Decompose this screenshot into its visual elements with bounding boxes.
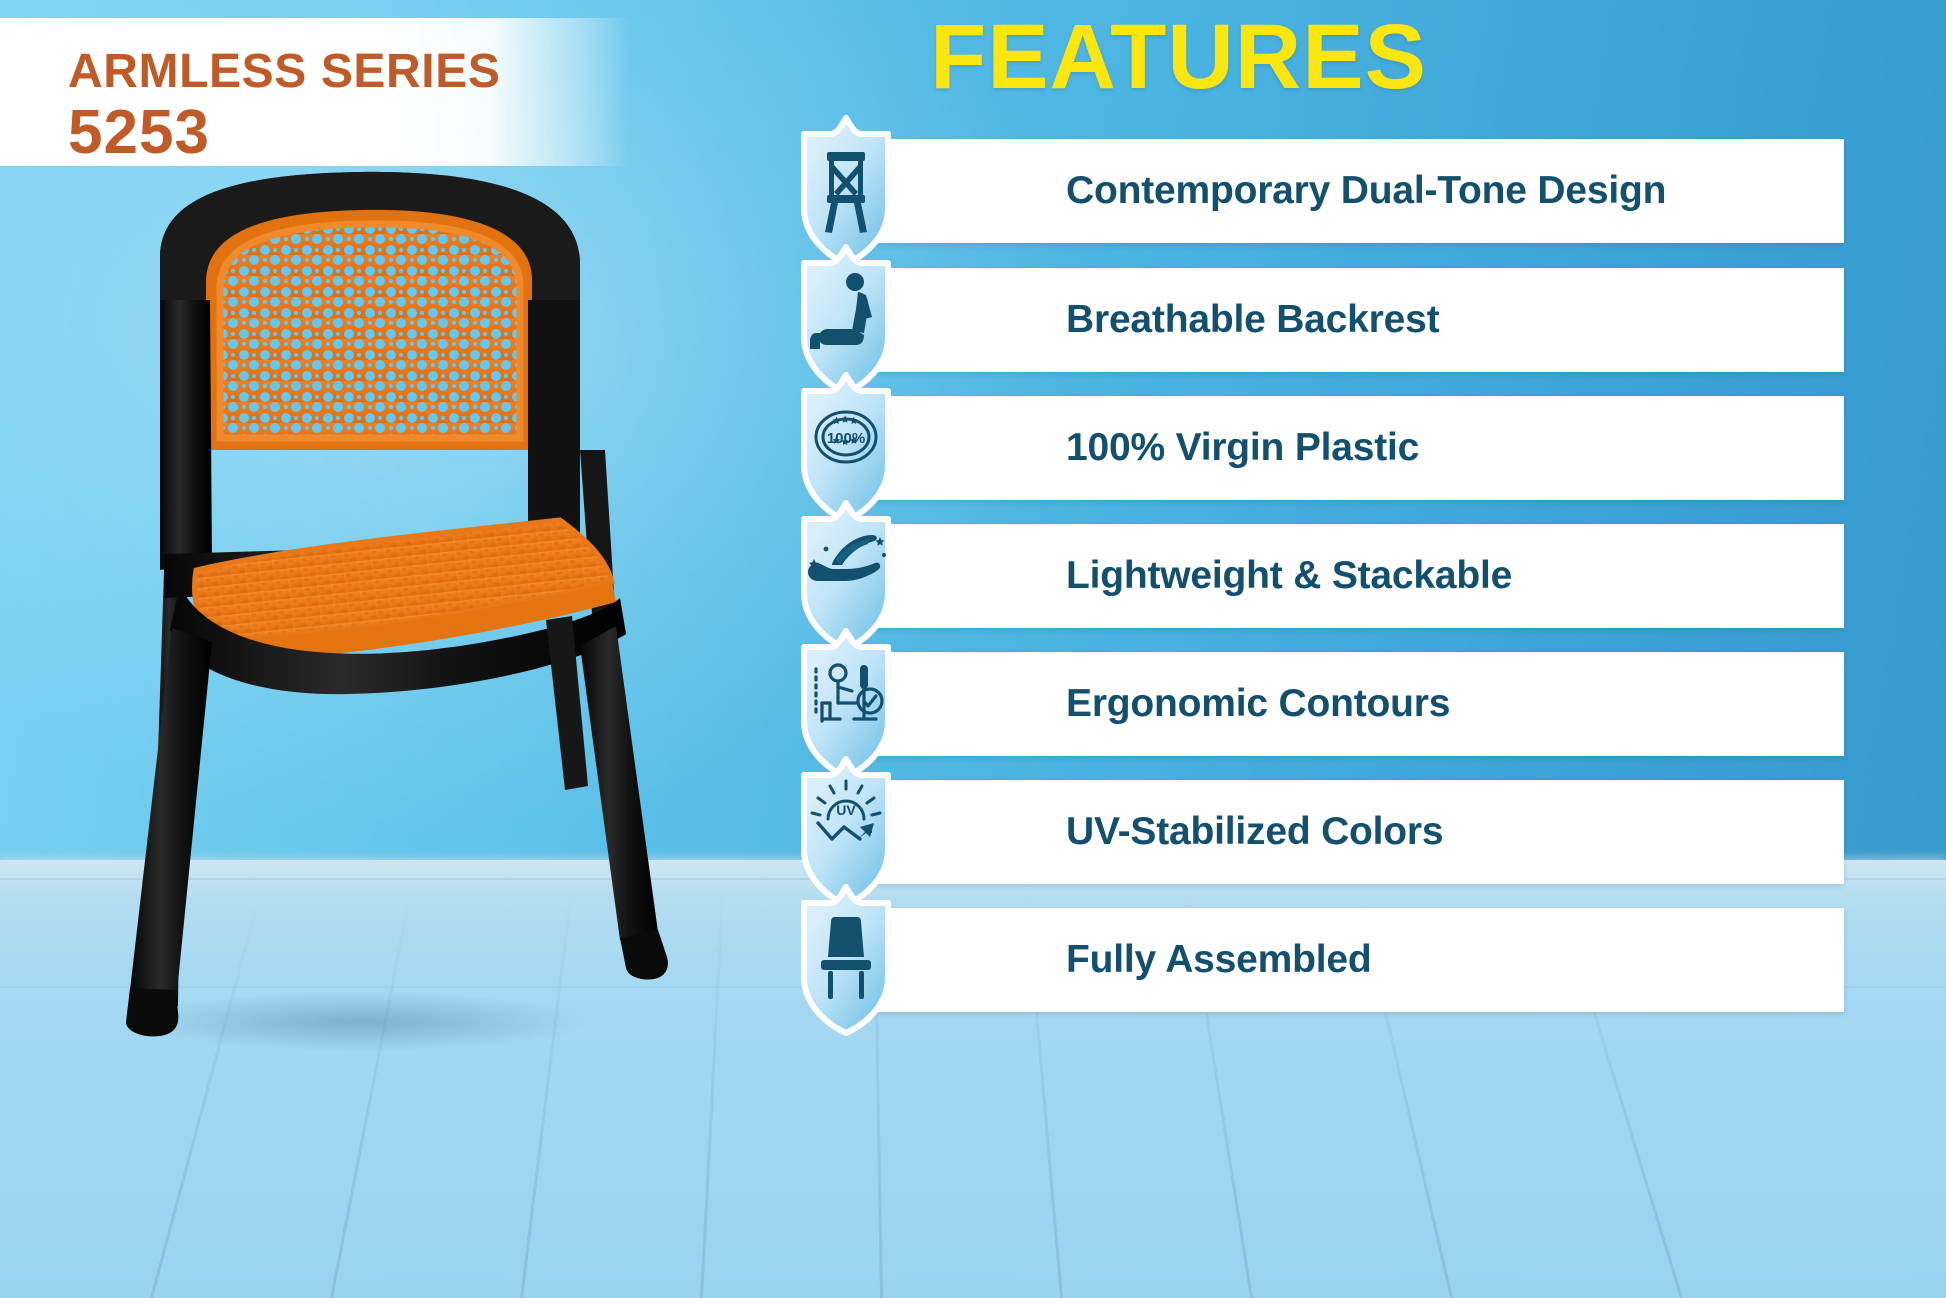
assembled-chair-icon bbox=[798, 881, 894, 1039]
feature-label: Contemporary Dual-Tone Design bbox=[1066, 139, 1666, 243]
feature-row[interactable]: Fully Assembled bbox=[0, 908, 1946, 1012]
product-feature-poster: ARMLESS SERIES 5253 FEATURES bbox=[0, 0, 1946, 1298]
feature-label: Lightweight & Stackable bbox=[1066, 524, 1512, 628]
feature-row[interactable]: Contemporary Dual-Tone Design bbox=[0, 139, 1946, 243]
feature-label: UV-Stabilized Colors bbox=[1066, 780, 1443, 884]
feature-row[interactable]: UV UV-Stabilized Colors bbox=[0, 780, 1946, 884]
feature-row[interactable]: Breathable Backrest bbox=[0, 268, 1946, 372]
svg-text:UV: UV bbox=[836, 802, 856, 818]
feature-label: Ergonomic Contours bbox=[1066, 652, 1450, 756]
features-heading: FEATURES bbox=[930, 8, 1350, 107]
feature-row[interactable]: 100% 100% Virgin Plastic bbox=[0, 396, 1946, 500]
feature-label: Breathable Backrest bbox=[1066, 268, 1439, 372]
svg-text:100%: 100% bbox=[827, 430, 865, 447]
feature-label: Fully Assembled bbox=[1066, 908, 1371, 1012]
feature-row[interactable]: Lightweight & Stackable bbox=[0, 524, 1946, 628]
feature-row[interactable]: Ergonomic Contours bbox=[0, 652, 1946, 756]
feature-label: 100% Virgin Plastic bbox=[1066, 396, 1419, 500]
series-label: ARMLESS SERIES bbox=[68, 44, 500, 99]
